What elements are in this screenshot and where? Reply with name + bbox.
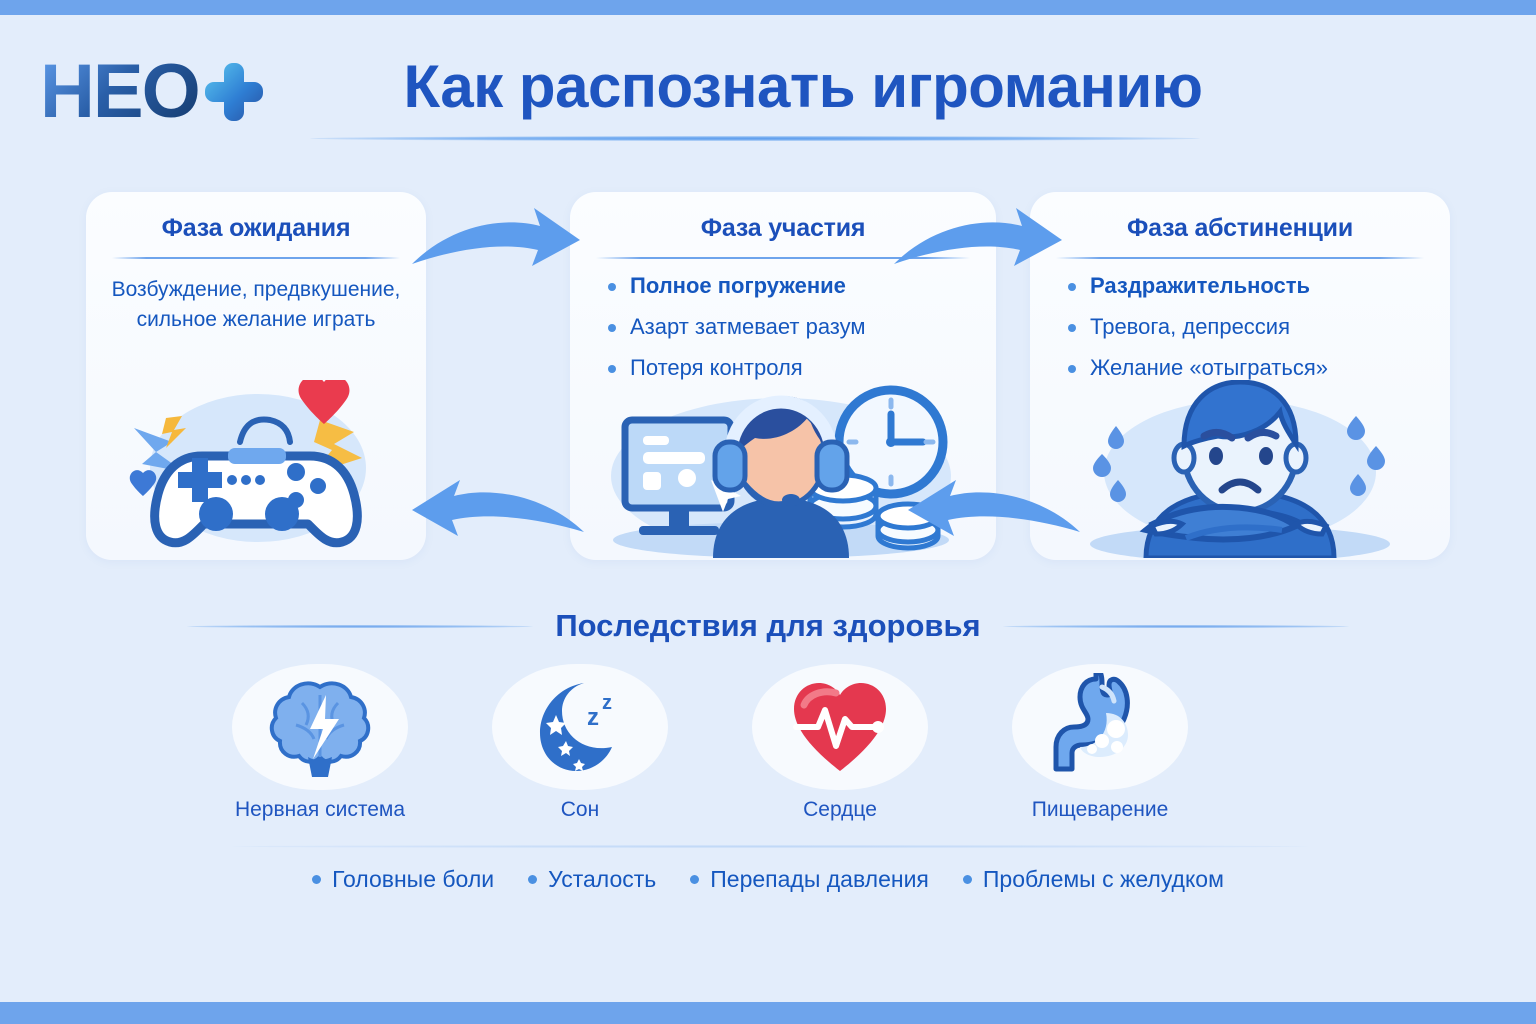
list-item: Головные боли	[312, 866, 494, 893]
consequences-heading-text: Последствия для здоровья	[555, 608, 980, 644]
arrow-left-icon	[404, 476, 590, 548]
sad-person-icon	[1030, 380, 1450, 560]
svg-text:z: z	[587, 704, 599, 731]
top-brand-band	[0, 0, 1536, 15]
bottom-divider	[232, 845, 1308, 848]
phase-card-withdrawal[interactable]: Фаза абстиненции Раздражительность Трево…	[1030, 192, 1450, 560]
health-item-nervous-system[interactable]: Нервная система	[230, 664, 410, 822]
heading-rule-left	[187, 625, 533, 628]
health-item-label: Нервная система	[230, 798, 410, 822]
health-consequences-row: Нервная система z z Сон	[230, 664, 1190, 822]
phase-cards: Фаза ожидания Возбуждение, предвкушение,…	[86, 192, 1450, 560]
symptom-label: Усталость	[548, 866, 656, 893]
health-item-label: Сон	[490, 798, 670, 822]
symptom-label: Перепады давления	[710, 866, 929, 893]
heading-rule-right	[1003, 625, 1349, 628]
brain-icon	[232, 664, 408, 790]
arrow-right-icon	[406, 200, 584, 278]
bullet-dot-icon	[690, 875, 699, 884]
list-item: Перепады давления	[690, 866, 929, 893]
moon-zzz-icon: z z	[492, 664, 668, 790]
bullet-dot-icon	[963, 875, 972, 884]
gamepad-hearts-lightning-icon	[86, 380, 426, 560]
bullet-dot-icon	[528, 875, 537, 884]
phase-bullet-list: Раздражительность Тревога, депрессия Жел…	[1052, 275, 1428, 379]
page-title: Как распознать игроманию	[0, 52, 1536, 121]
list-item: Проблемы с желудком	[963, 866, 1224, 893]
list-item: Азарт затмевает разум	[606, 316, 974, 338]
health-item-label: Сердце	[750, 798, 930, 822]
bullet-dot-icon	[312, 875, 321, 884]
arrow-left-icon	[900, 476, 1086, 548]
health-item-label: Пищеварение	[1010, 798, 1190, 822]
phase-card-paragraph: Возбуждение, предвкушение, сильное желан…	[108, 275, 404, 336]
arrow-right-icon	[888, 200, 1066, 278]
stomach-icon	[1012, 664, 1188, 790]
header: НЕО Как распознать игроманию	[0, 30, 1536, 140]
list-item: Полное погружение	[606, 275, 974, 297]
list-item: Тревога, депрессия	[1066, 316, 1428, 338]
phase-card-title: Фаза абстиненции	[1030, 192, 1450, 243]
symptom-label: Проблемы с желудком	[983, 866, 1224, 893]
health-item-heart[interactable]: Сердце	[750, 664, 930, 822]
consequences-heading: Последствия для здоровья	[0, 608, 1536, 644]
health-item-sleep[interactable]: z z Сон	[490, 664, 670, 822]
infographic-poster: НЕО Как распознать игроманию Фаза ожидан…	[0, 0, 1536, 1024]
list-item: Раздражительность	[1066, 275, 1428, 297]
phase-card-waiting[interactable]: Фаза ожидания Возбуждение, предвкушение,…	[86, 192, 426, 560]
phase-card-title: Фаза ожидания	[86, 192, 426, 243]
title-divider	[310, 136, 1200, 141]
list-item: Желание «отыграться»	[1066, 357, 1428, 379]
heart-pulse-icon	[752, 664, 928, 790]
bottom-brand-band	[0, 1002, 1536, 1024]
svg-text:z: z	[602, 692, 612, 714]
list-item: Потеря контроля	[606, 357, 974, 379]
phase-bullet-list: Полное погружение Азарт затмевает разум …	[592, 275, 974, 379]
symptom-label: Головные боли	[332, 866, 494, 893]
health-item-digestion[interactable]: Пищеварение	[1010, 664, 1190, 822]
list-item: Усталость	[528, 866, 656, 893]
symptom-list: Головные боли Усталость Перепады давлени…	[0, 866, 1536, 893]
